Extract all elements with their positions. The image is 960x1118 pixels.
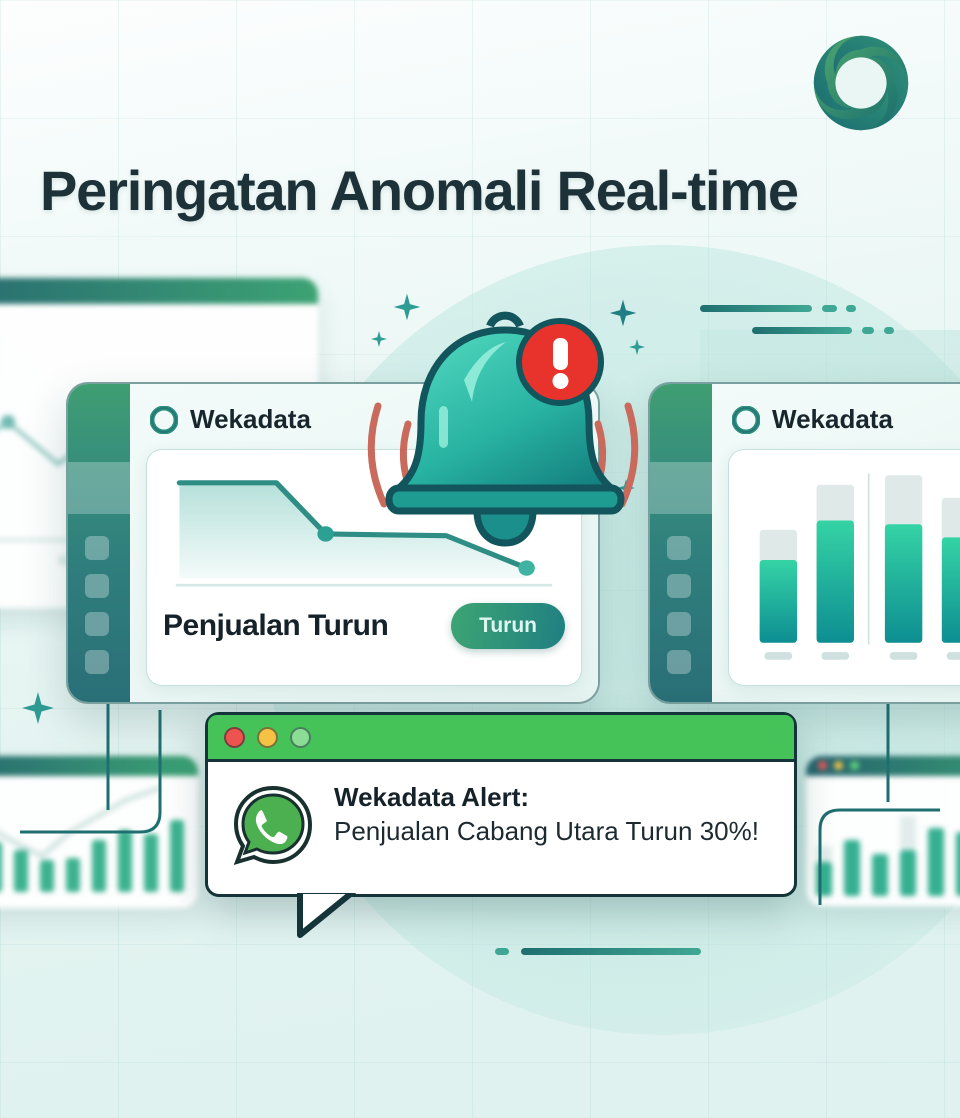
sidebar-item-settings[interactable] <box>667 650 691 674</box>
alert-bell <box>360 288 650 558</box>
sidebar-item-alerts[interactable] <box>85 612 109 636</box>
sidebar-left[interactable] <box>68 384 130 702</box>
notification-message: Wekadata Alert: Penjualan Cabang Utara T… <box>334 782 772 868</box>
window-header-right: Wekadata <box>732 404 960 435</box>
decor-dash <box>700 305 812 312</box>
decor-dot <box>822 305 837 312</box>
wekadata-mark-icon <box>150 406 178 434</box>
sidebar-item-dashboard[interactable] <box>667 536 691 560</box>
sidebar-right[interactable] <box>650 384 712 702</box>
whatsapp-icon <box>230 782 316 868</box>
card-title: Penjualan Turun <box>163 609 388 643</box>
notification-titlebar <box>208 715 794 762</box>
status-badge[interactable]: Turun <box>451 603 565 649</box>
sidebar-item-reports[interactable] <box>85 574 109 598</box>
decor-dot <box>884 327 894 334</box>
alert-bell-icon <box>360 288 650 558</box>
sidebar-item-dashboard[interactable] <box>85 536 109 560</box>
bar-chart <box>745 464 960 671</box>
sidebar-active-indicator <box>650 462 712 514</box>
page-title: Peringatan Anomali Real-time <box>40 158 930 223</box>
whatsapp-notification-card[interactable]: Wekadata Alert: Penjualan Cabang Utara T… <box>205 712 797 897</box>
decor-dash <box>752 327 852 334</box>
notification-tail <box>296 891 416 941</box>
window-dot-minimize[interactable] <box>257 727 278 748</box>
window-dot-close[interactable] <box>224 727 245 748</box>
notification-title: Wekadata Alert: <box>334 782 772 813</box>
bar-chart-card <box>728 449 960 686</box>
poster-canvas: Peringatan Anomali Real-time <box>0 0 960 1118</box>
sidebar-item-reports[interactable] <box>667 574 691 598</box>
sidebar-item-settings[interactable] <box>85 650 109 674</box>
window-dot-maximize[interactable] <box>290 727 311 748</box>
decor-dot <box>862 327 874 334</box>
dashboard-window-right[interactable]: Wekadata <box>648 382 960 704</box>
brand-name: Wekadata <box>772 404 893 435</box>
decor-dot <box>846 305 856 312</box>
brand-name: Wekadata <box>190 404 311 435</box>
wekadata-logo-icon <box>802 24 920 142</box>
wekadata-mark-icon <box>732 406 760 434</box>
sidebar-active-indicator <box>68 462 130 514</box>
sidebar-item-alerts[interactable] <box>667 612 691 636</box>
notification-body: Penjualan Cabang Utara Turun 30%! <box>334 815 772 848</box>
